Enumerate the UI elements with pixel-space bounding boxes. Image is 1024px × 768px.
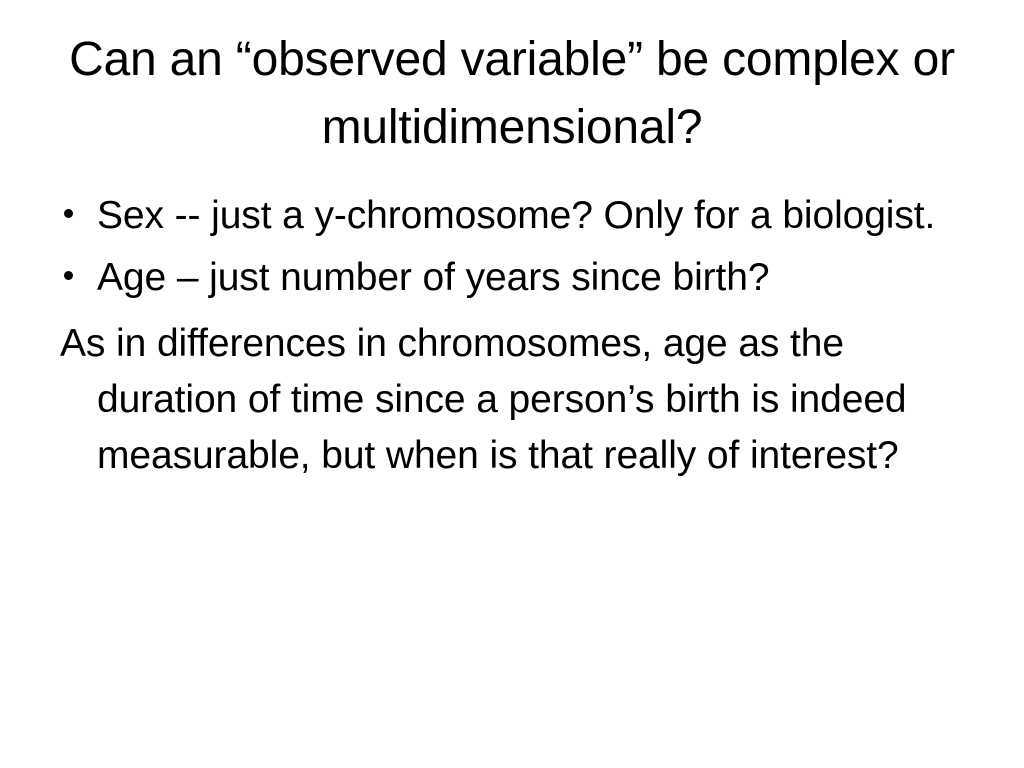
list-item: Age – just number of years since birth?	[60, 250, 964, 306]
list-item-label: Age – just number of years since birth?	[97, 250, 964, 306]
list-item: Sex -- just a y-chromosome? Only for a b…	[60, 188, 964, 244]
slide-body: Sex -- just a y-chromosome? Only for a b…	[60, 188, 964, 484]
slide-canvas: Can an “observed variable” be complex or…	[0, 0, 1024, 768]
body-paragraph: As in differences in chromosomes, age as…	[60, 316, 964, 484]
bullet-dot-icon	[64, 271, 73, 280]
bullet-dot-icon	[64, 209, 73, 218]
page-title: Can an “observed variable” be complex or…	[60, 26, 964, 162]
list-item-label: Sex -- just a y-chromosome? Only for a b…	[97, 188, 964, 244]
